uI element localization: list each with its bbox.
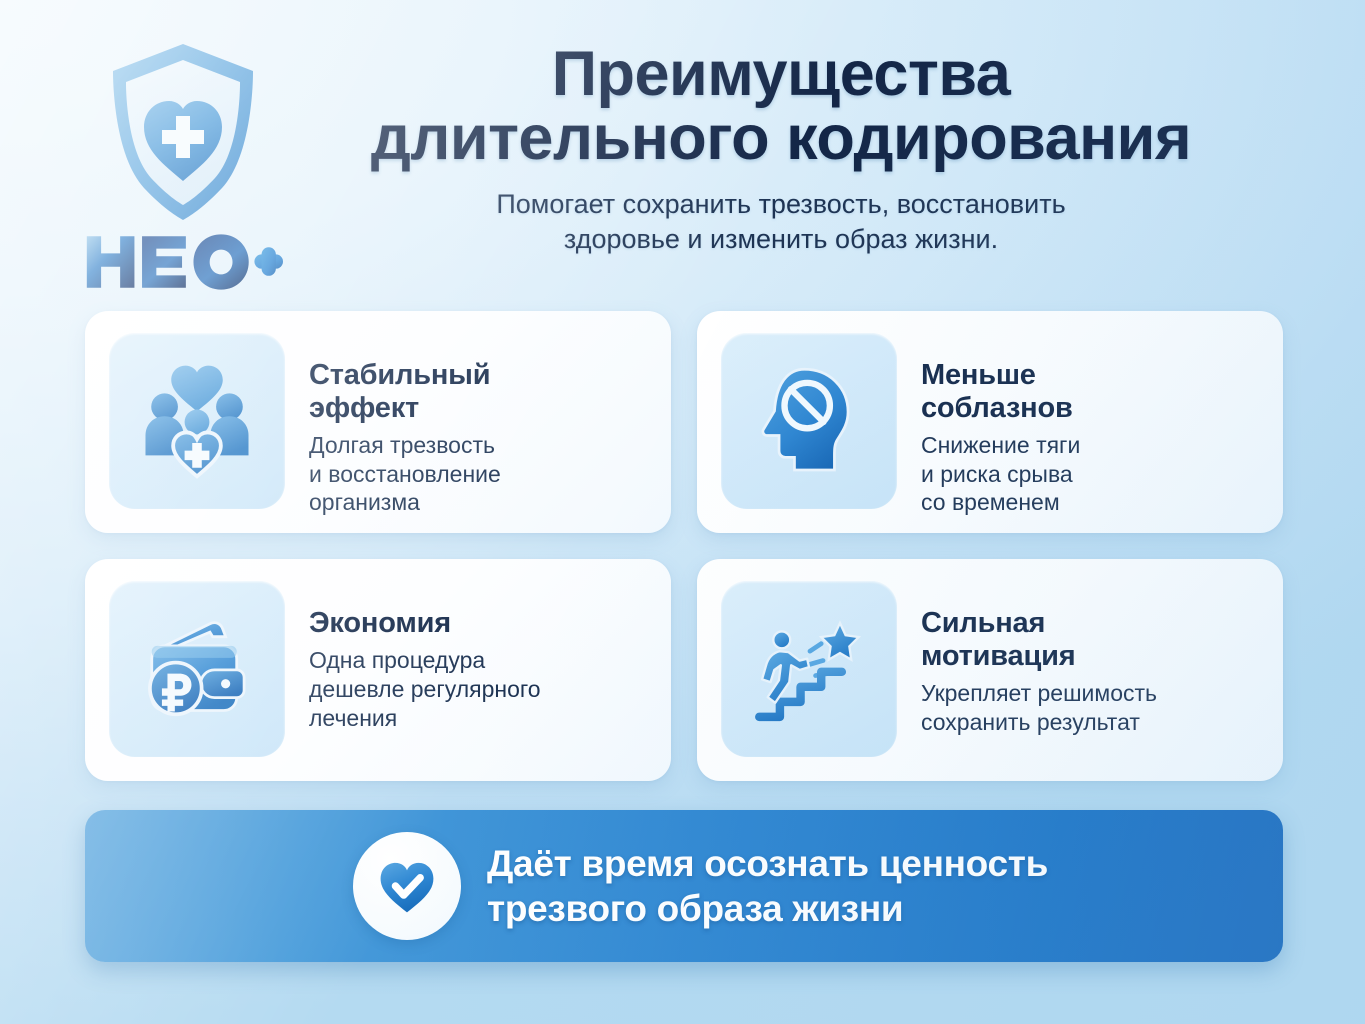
benefit-card-desc-line3: лечения: [309, 705, 397, 731]
stairs-star-runner-icon: [721, 581, 897, 757]
page-subtitle: Помогает сохранить трезвость, восстанови…: [401, 187, 1161, 258]
page-title: Преимущества длительного кодирования: [286, 42, 1276, 171]
header: Преимущества длительного кодирования Пом…: [0, 0, 1365, 300]
benefit-card-text: Меньше соблазнов Снижение тяги и риска с…: [897, 333, 1080, 517]
summary-banner-line1: Даёт время осознать ценность: [487, 843, 1048, 884]
heart-check-circle-icon: [353, 832, 461, 940]
page-title-line2: длительного кодирования: [286, 106, 1276, 170]
benefit-card-title-line2: соблазнов: [921, 392, 1073, 424]
benefit-card-title-line1: Меньше: [921, 359, 1036, 391]
benefit-card-text: Сильная мотивация Укрепляет решимость со…: [897, 581, 1157, 736]
infographic-poster: Преимущества длительного кодирования Пом…: [0, 0, 1365, 1024]
wallet-ruble-icon: [109, 581, 285, 757]
benefit-card-desc-line2: и восстановление: [309, 461, 501, 487]
benefit-card-description: Снижение тяги и риска срыва со временем: [921, 431, 1080, 518]
page-subtitle-line2: здоровье и изменить образ жизни.: [564, 224, 998, 254]
benefit-card-fewer-temptations[interactable]: Меньше соблазнов Снижение тяги и риска с…: [697, 311, 1283, 533]
summary-banner-line2: трезвого образа жизни: [487, 886, 1048, 931]
head-no-entry-icon: [721, 333, 897, 509]
benefit-card-desc-line1: Укрепляет решимость: [921, 680, 1157, 706]
benefit-card-title: Стабильный эффект: [309, 359, 501, 425]
brand-logo-text: [78, 230, 288, 294]
brand-block: [78, 38, 288, 294]
page-subtitle-line1: Помогает сохранить трезвость, восстанови…: [496, 189, 1065, 219]
benefit-card-desc-line2: дешевле регулярного: [309, 676, 541, 702]
title-block: Преимущества длительного кодирования Пом…: [286, 42, 1276, 258]
benefit-card-desc-line2: и риска срыва: [921, 461, 1073, 487]
benefit-card-title-line2: мотивация: [921, 640, 1075, 672]
benefit-card-motivation[interactable]: Сильная мотивация Укрепляет решимость со…: [697, 559, 1283, 781]
benefit-card-title-line1: Сильная: [921, 607, 1045, 639]
family-heart-plus-icon: [109, 333, 285, 509]
benefit-card-desc-line3: со временем: [921, 489, 1060, 515]
benefit-card-title: Экономия: [309, 607, 541, 640]
summary-banner-text: Даёт время осознать ценность трезвого об…: [487, 841, 1048, 931]
benefits-grid: Стабильный эффект Долгая трезвость и вос…: [85, 311, 1283, 781]
benefit-card-title-line1: Экономия: [309, 607, 451, 639]
benefit-card-desc-line1: Снижение тяги: [921, 432, 1080, 458]
benefit-card-stable-effect[interactable]: Стабильный эффект Долгая трезвость и вос…: [85, 311, 671, 533]
shield-heart-plus-icon: [104, 38, 262, 226]
benefit-card-title: Сильная мотивация: [921, 607, 1157, 673]
summary-banner[interactable]: Даёт время осознать ценность трезвого об…: [85, 810, 1283, 962]
benefit-card-desc-line3: организма: [309, 489, 420, 515]
page-title-line1: Преимущества: [552, 39, 1011, 109]
benefit-card-desc-line1: Одна процедура: [309, 647, 485, 673]
benefit-card-desc-line2: сохранить результат: [921, 709, 1140, 735]
benefit-card-title-line2: эффект: [309, 392, 419, 424]
benefit-card-description: Долгая трезвость и восстановление органи…: [309, 431, 501, 518]
benefit-card-title-line1: Стабильный: [309, 359, 490, 391]
benefit-card-text: Стабильный эффект Долгая трезвость и вос…: [285, 333, 501, 517]
benefit-card-title: Меньше соблазнов: [921, 359, 1080, 425]
benefit-card-text: Экономия Одна процедура дешевле регулярн…: [285, 581, 541, 733]
benefit-card-description: Укрепляет решимость сохранить результат: [921, 679, 1157, 737]
benefit-card-description: Одна процедура дешевле регулярного лечен…: [309, 646, 541, 733]
benefit-card-savings[interactable]: Экономия Одна процедура дешевле регулярн…: [85, 559, 671, 781]
benefit-card-desc-line1: Долгая трезвость: [309, 432, 495, 458]
